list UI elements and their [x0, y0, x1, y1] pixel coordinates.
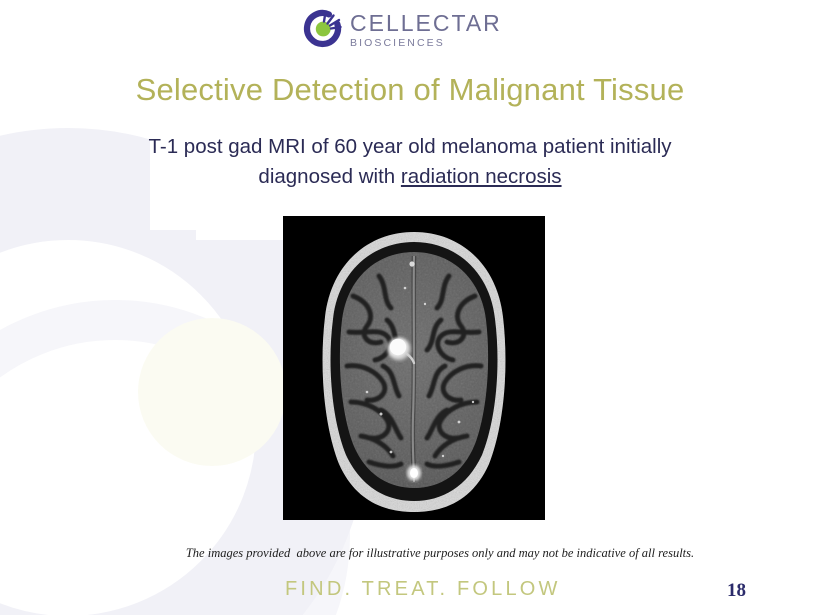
- figure-disclaimer-caption: The images provided above are for illust…: [60, 546, 820, 561]
- logo-text-block: CELLECTAR BIOSCIENCES: [350, 12, 502, 49]
- watermark-center-dot: [138, 318, 286, 466]
- slide-canvas: CELLECTAR BIOSCIENCES Selective Detectio…: [0, 0, 820, 615]
- slide-subtitle: T-1 post gad MRI of 60 year old melanoma…: [100, 132, 720, 191]
- subtitle-line-2-prefix: diagnosed with: [258, 165, 400, 188]
- cellectar-logo: CELLECTAR BIOSCIENCES: [300, 6, 510, 54]
- brain-mri-image: [283, 216, 545, 520]
- footer-tagline: FIND. TREAT. FOLLOW: [285, 578, 561, 601]
- logo-wordmark: CELLECTAR: [350, 12, 502, 35]
- cellectar-c-mark-icon: [300, 7, 346, 53]
- slide-title: Selective Detection of Malignant Tissue: [0, 72, 820, 108]
- subtitle-line-1: T-1 post gad MRI of 60 year old melanoma…: [148, 135, 671, 158]
- logo-subwordmark: BIOSCIENCES: [350, 38, 502, 49]
- slide-page-number: 18: [727, 580, 746, 602]
- subtitle-underlined-term: radiation necrosis: [401, 165, 562, 188]
